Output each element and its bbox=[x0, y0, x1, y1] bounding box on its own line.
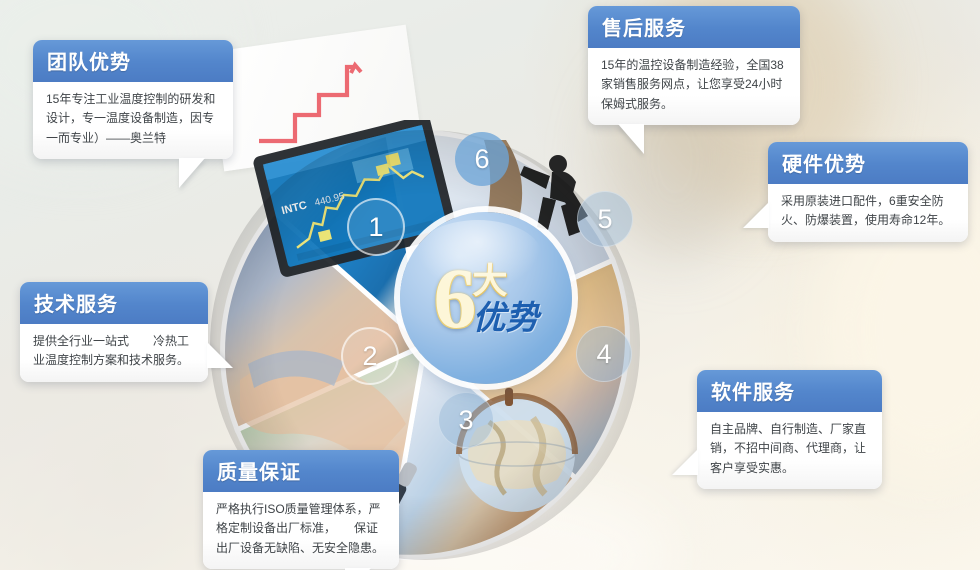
center-badge-inner: 6 大 优势 bbox=[400, 212, 572, 384]
callout-software[interactable]: 软件服务 自主品牌、自行制造、厂家直销，不招中间商、代理商，让客户享受实惠。 bbox=[697, 370, 882, 489]
segment-number-3[interactable]: 3 bbox=[438, 392, 494, 448]
callout-software-title: 软件服务 bbox=[697, 370, 882, 412]
segment-number-2[interactable]: 2 bbox=[341, 327, 399, 385]
center-word-big: 大 bbox=[473, 264, 539, 299]
center-number: 6 bbox=[434, 263, 477, 334]
callout-after-sales-body: 15年的温控设备制造经验，全国38家销售服务网点，让您享受24小时保姆式服务。 bbox=[588, 48, 800, 125]
center-badge: 6 大 优势 bbox=[400, 212, 572, 384]
segment-number-4-label: 4 bbox=[596, 339, 611, 370]
segment-number-5[interactable]: 5 bbox=[577, 191, 633, 247]
segment-number-6-label: 6 bbox=[474, 144, 489, 175]
callout-technical-title: 技术服务 bbox=[20, 282, 208, 324]
segment-number-1[interactable]: 1 bbox=[347, 198, 405, 256]
segment-number-1-label: 1 bbox=[368, 212, 383, 243]
callout-technical[interactable]: 技术服务 提供全行业一站式 冷热工业温度控制方案和技术服务。 bbox=[20, 282, 208, 382]
callout-team-title: 团队优势 bbox=[33, 40, 233, 82]
callout-after-sales-title: 售后服务 bbox=[588, 6, 800, 48]
callout-after-sales-tail bbox=[618, 124, 644, 154]
callout-technical-body: 提供全行业一站式 冷热工业温度控制方案和技术服务。 bbox=[20, 324, 208, 382]
callout-quality-body: 严格执行ISO质量管理体系，严格定制设备出厂标准， 保证出厂设备无缺陷、无安全隐… bbox=[203, 492, 399, 569]
segment-number-3-label: 3 bbox=[458, 405, 473, 436]
segment-number-4[interactable]: 4 bbox=[576, 326, 632, 382]
callout-hardware-tail bbox=[743, 202, 769, 228]
callout-hardware-title: 硬件优势 bbox=[768, 142, 968, 184]
callout-software-tail bbox=[672, 449, 698, 475]
segment-number-2-label: 2 bbox=[362, 341, 377, 372]
callout-team-advantage[interactable]: 团队优势 15年专注工业温度控制的研发和设计，专一温度设备制造，因专一而专业）—… bbox=[33, 40, 233, 159]
segment-number-5-label: 5 bbox=[597, 204, 612, 235]
center-words: 大 优势 bbox=[473, 264, 539, 336]
callout-team-body: 15年专注工业温度控制的研发和设计，专一温度设备制造，因专一而专业）——奥兰特 bbox=[33, 82, 233, 159]
callout-after-sales[interactable]: 售后服务 15年的温控设备制造经验，全国38家销售服务网点，让您享受24小时保姆… bbox=[588, 6, 800, 125]
callout-hardware-body: 采用原装进口配件，6重安全防火、防爆装置，使用寿命12年。 bbox=[768, 184, 968, 242]
callout-quality[interactable]: 质量保证 严格执行ISO质量管理体系，严格定制设备出厂标准， 保证出厂设备无缺陷… bbox=[203, 450, 399, 569]
callout-software-body: 自主品牌、自行制造、厂家直销，不招中间商、代理商，让客户享受实惠。 bbox=[697, 412, 882, 489]
infographic-canvas: INTC 440.95 bbox=[0, 0, 980, 570]
callout-hardware[interactable]: 硬件优势 采用原装进口配件，6重安全防火、防爆装置，使用寿命12年。 bbox=[768, 142, 968, 242]
center-word-sub: 优势 bbox=[473, 301, 539, 336]
callout-technical-tail bbox=[207, 342, 233, 368]
callout-quality-title: 质量保证 bbox=[203, 450, 399, 492]
callout-team-tail bbox=[179, 158, 205, 188]
segment-number-6[interactable]: 6 bbox=[455, 132, 509, 186]
